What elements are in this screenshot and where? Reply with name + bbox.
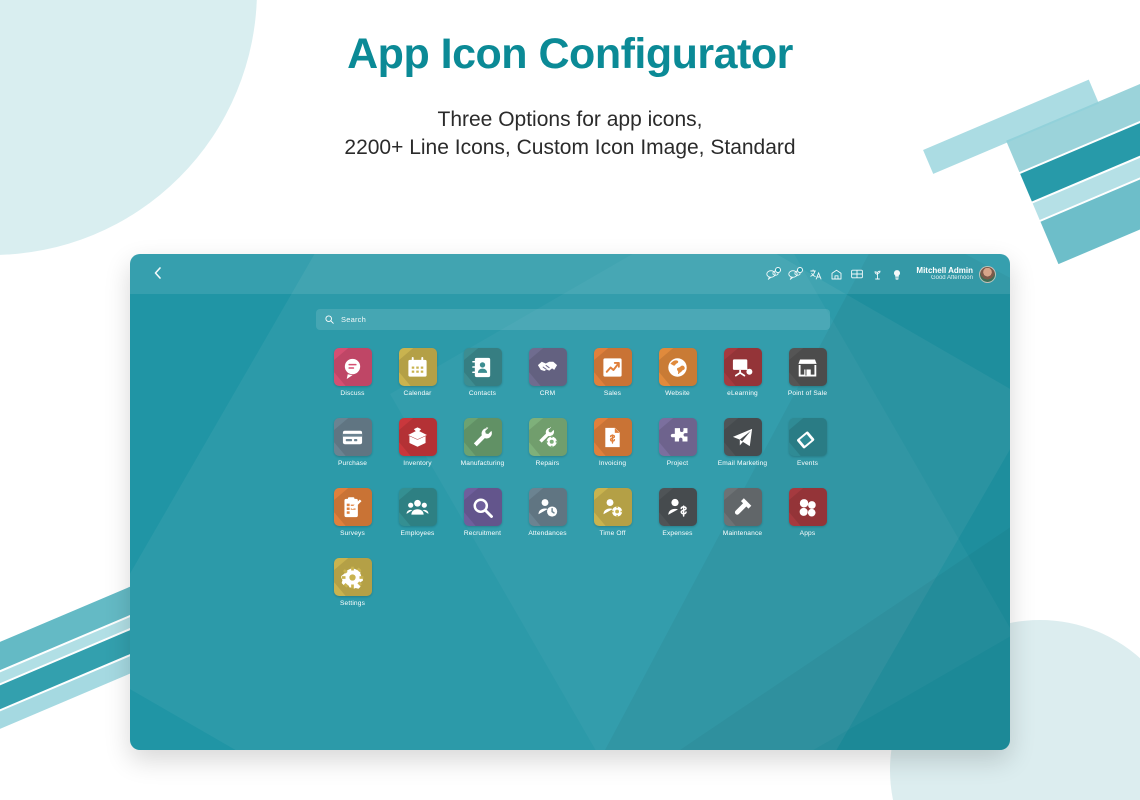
app-attendances[interactable]: Attendances	[515, 488, 580, 537]
app-tile[interactable]	[464, 488, 502, 526]
app-purchase[interactable]: Purchase	[320, 418, 385, 467]
app-label: Inventory	[403, 460, 431, 467]
app-label: Calendar	[404, 390, 432, 397]
app-tile[interactable]	[659, 348, 697, 386]
calendar-icon	[406, 356, 429, 379]
app-tile[interactable]	[399, 348, 437, 386]
person-clock-icon	[536, 496, 559, 519]
page-title: App Icon Configurator	[0, 30, 1140, 79]
app-tile[interactable]	[724, 418, 762, 456]
user-name: Mitchell Admin	[916, 266, 973, 275]
lightbulb-icon[interactable]	[892, 269, 902, 280]
app-tile[interactable]	[789, 418, 827, 456]
speech-bubble-icon	[341, 356, 364, 379]
user-greeting: Good Afternoon	[916, 275, 973, 282]
ticket-icon	[796, 426, 819, 449]
search-bar[interactable]: Search	[316, 309, 830, 330]
invoice-icon	[601, 426, 624, 449]
page-subtitle-line-1: Three Options for app icons,	[0, 106, 1140, 134]
app-surveys[interactable]: Surveys	[320, 488, 385, 537]
app-repairs[interactable]: Repairs	[515, 418, 580, 467]
app-tile[interactable]	[399, 418, 437, 456]
app-manufacturing[interactable]: Manufacturing	[450, 418, 515, 467]
page-root: App Icon Configurator Three Options for …	[0, 0, 1140, 800]
app-tile[interactable]	[594, 488, 632, 526]
chevron-left-icon[interactable]	[154, 267, 161, 282]
app-tile[interactable]	[464, 418, 502, 456]
app-label: Manufacturing	[461, 460, 505, 467]
messages-icon[interactable]	[766, 269, 779, 280]
page-subtitle-line-2: 2200+ Line Icons, Custom Icon Image, Sta…	[0, 134, 1140, 162]
puzzle-icon	[666, 426, 689, 449]
credit-card-icon	[341, 426, 364, 449]
app-tile[interactable]	[659, 488, 697, 526]
open-box-icon	[406, 426, 429, 449]
app-time-off[interactable]: Time Off	[580, 488, 645, 537]
app-invoicing[interactable]: Invoicing	[580, 418, 645, 467]
app-tile[interactable]	[334, 558, 372, 596]
app-label: Point of Sale	[788, 390, 827, 397]
app-recruitment[interactable]: Recruitment	[450, 488, 515, 537]
app-contacts[interactable]: Contacts	[450, 348, 515, 397]
app-employees[interactable]: Employees	[385, 488, 450, 537]
system-icons	[766, 269, 902, 280]
app-tile[interactable]	[529, 488, 567, 526]
paper-plane-icon	[731, 426, 754, 449]
storefront-icon	[796, 356, 819, 379]
activity-badge	[797, 267, 803, 273]
person-dollar-icon	[666, 496, 689, 519]
app-calendar[interactable]: Calendar	[385, 348, 450, 397]
app-tile[interactable]	[334, 348, 372, 386]
app-crm[interactable]: CRM	[515, 348, 580, 397]
app-label: Employees	[401, 530, 435, 537]
app-grid: DiscussCalendarContactsCRMSalesWebsiteeL…	[320, 348, 840, 628]
app-label: Project	[667, 460, 689, 467]
app-tile[interactable]	[529, 348, 567, 386]
app-label: Expenses	[662, 530, 692, 537]
apps-grid-icon[interactable]	[851, 269, 863, 279]
translate-icon[interactable]	[810, 269, 822, 280]
app-label: Time Off	[599, 530, 625, 537]
app-tile[interactable]	[659, 418, 697, 456]
app-inventory[interactable]: Inventory	[385, 418, 450, 467]
app-website[interactable]: Website	[645, 348, 710, 397]
person-gear-icon	[601, 496, 624, 519]
app-events[interactable]: Events	[775, 418, 840, 467]
gear-icon	[341, 566, 364, 589]
user-menu[interactable]: Mitchell Admin Good Afternoon	[916, 266, 996, 283]
app-tile[interactable]	[724, 488, 762, 526]
app-tile[interactable]	[464, 348, 502, 386]
app-label: Events	[797, 460, 818, 467]
app-sales[interactable]: Sales	[580, 348, 645, 397]
handshake-icon	[536, 356, 559, 379]
app-discuss[interactable]: Discuss	[320, 348, 385, 397]
app-settings[interactable]: Settings	[320, 558, 385, 607]
app-email-marketing[interactable]: Email Marketing	[710, 418, 775, 467]
user-avatar[interactable]	[979, 266, 996, 283]
app-project[interactable]: Project	[645, 418, 710, 467]
app-label: Discuss	[340, 390, 364, 397]
app-label: Attendances	[528, 530, 566, 537]
app-tile[interactable]	[529, 418, 567, 456]
app-tile[interactable]	[789, 488, 827, 526]
sprout-icon[interactable]	[872, 269, 883, 280]
company-icon[interactable]	[831, 269, 842, 280]
wrench-icon	[471, 426, 494, 449]
app-point-of-sale[interactable]: Point of Sale	[775, 348, 840, 397]
app-label: Apps	[800, 530, 816, 537]
app-label: Maintenance	[723, 530, 762, 537]
wrench-gear-icon	[536, 426, 559, 449]
clipboard-pen-icon	[341, 496, 364, 519]
blocks-icon	[796, 496, 819, 519]
globe-icon	[666, 356, 689, 379]
hammer-icon	[731, 496, 754, 519]
app-tile[interactable]	[724, 348, 762, 386]
app-label: eLearning	[727, 390, 758, 397]
app-label: Purchase	[338, 460, 367, 467]
chart-up-icon	[601, 356, 624, 379]
window-topbar: Mitchell Admin Good Afternoon	[130, 254, 1010, 294]
app-label: Repairs	[536, 460, 560, 467]
app-label: Surveys	[340, 530, 365, 537]
app-label: CRM	[540, 390, 555, 397]
app-expenses[interactable]: Expenses	[645, 488, 710, 537]
presentation-icon	[731, 356, 754, 379]
messages-badge	[775, 267, 781, 273]
contact-card-icon	[471, 356, 494, 379]
app-label: Sales	[604, 390, 621, 397]
magnifier-icon	[471, 496, 494, 519]
app-label: Invoicing	[599, 460, 626, 467]
app-label: Contacts	[469, 390, 496, 397]
activity-icon[interactable]	[788, 269, 801, 280]
app-label: Settings	[340, 600, 365, 607]
app-apps[interactable]: Apps	[775, 488, 840, 537]
app-tile[interactable]	[399, 488, 437, 526]
app-maintenance[interactable]: Maintenance	[710, 488, 775, 537]
app-label: Website	[665, 390, 690, 397]
app-label: Email Marketing	[718, 460, 768, 467]
people-icon	[406, 496, 429, 519]
app-tile[interactable]	[334, 418, 372, 456]
app-elearning[interactable]: eLearning	[710, 348, 775, 397]
app-tile[interactable]	[334, 488, 372, 526]
user-text: Mitchell Admin Good Afternoon	[916, 266, 973, 282]
search-input[interactable]: Search	[341, 315, 366, 324]
app-tile[interactable]	[594, 348, 632, 386]
app-tile[interactable]	[594, 418, 632, 456]
app-label: Recruitment	[464, 530, 501, 537]
search-icon	[325, 315, 334, 324]
app-tile[interactable]	[789, 348, 827, 386]
page-subtitle: Three Options for app icons, 2200+ Line …	[0, 106, 1140, 162]
app-window: Mitchell Admin Good Afternoon Search Dis…	[130, 254, 1010, 750]
